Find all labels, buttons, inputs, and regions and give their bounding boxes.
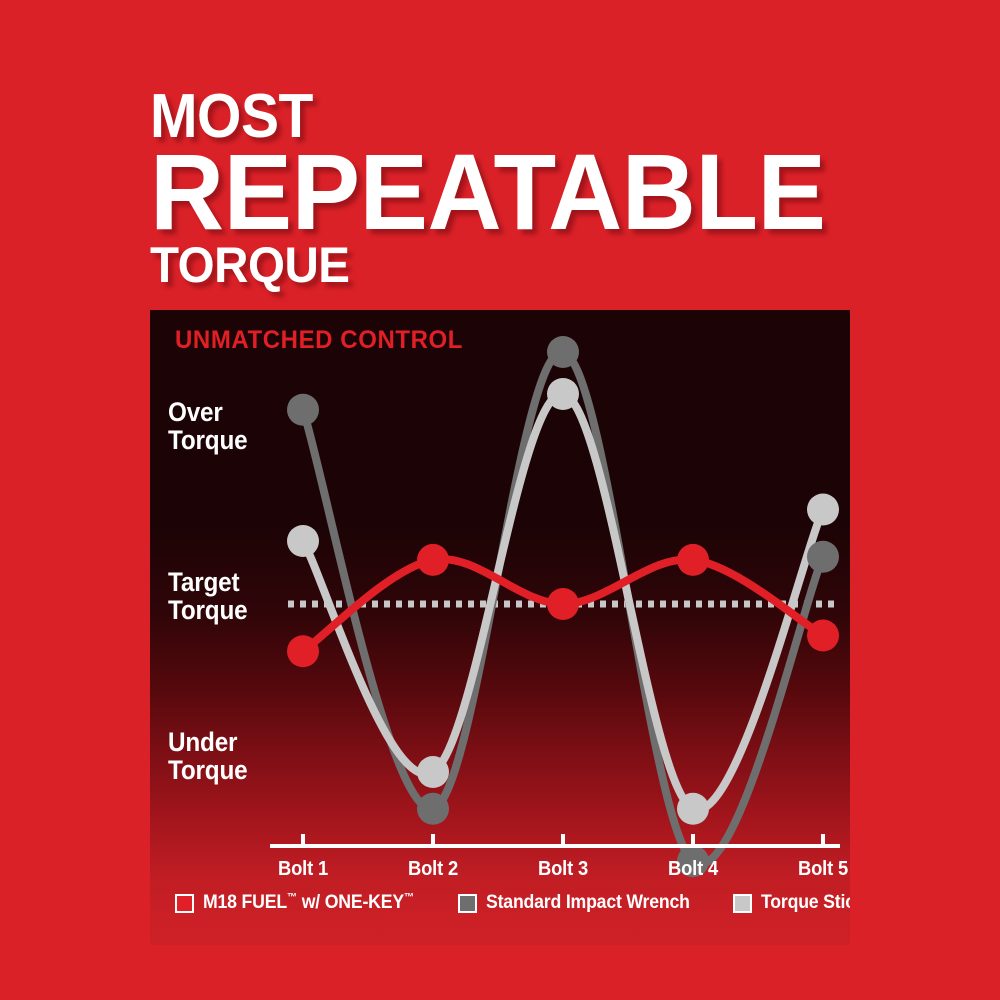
data-point-marker — [677, 544, 709, 576]
x-axis-tick-label: Bolt 3 — [538, 858, 588, 881]
legend-swatch-torque-stick — [733, 894, 752, 913]
data-point-marker — [287, 394, 319, 426]
legend-swatch-m18-fuel — [175, 894, 194, 913]
headline-block: MOST REPEATABLE TORQUE — [150, 88, 910, 289]
chart-panel: UNMATCHED CONTROL Over Torque Target Tor… — [150, 310, 850, 945]
data-point-marker — [287, 525, 319, 557]
headline-line-3: TORQUE — [150, 242, 872, 289]
legend-label-standard-impact-wrench: Standard Impact Wrench — [486, 892, 690, 914]
legend-item-torque-stick[interactable]: Torque Stick — [733, 892, 850, 914]
data-point-marker — [677, 793, 709, 825]
legend-label-m18-fuel: M18 FUEL™ w/ ONE-KEY™ — [203, 892, 414, 914]
data-point-marker — [807, 494, 839, 526]
x-axis-tick-label: Bolt 2 — [408, 858, 458, 881]
data-point-marker — [807, 541, 839, 573]
headline-line-2: REPEATABLE — [150, 142, 872, 242]
data-point-marker — [417, 544, 449, 576]
x-axis-tick-label: Bolt 1 — [278, 858, 328, 881]
chart-legend: M18 FUEL™ w/ ONE-KEY™ Standard Impact Wr… — [175, 892, 850, 914]
legend-item-standard-impact-wrench[interactable]: Standard Impact Wrench — [458, 892, 705, 914]
data-point-marker — [807, 620, 839, 652]
poster-root: MOST REPEATABLE TORQUE UNMATCHED CONTROL… — [0, 0, 1000, 1000]
legend-swatch-standard-impact-wrench — [458, 894, 477, 913]
data-point-marker — [417, 756, 449, 788]
legend-item-m18-fuel[interactable]: M18 FUEL™ w/ ONE-KEY™ — [175, 892, 430, 914]
data-point-marker — [287, 635, 319, 667]
chart-plot — [150, 310, 850, 945]
data-point-marker — [547, 378, 579, 410]
data-point-marker — [547, 588, 579, 620]
x-axis-tick-label: Bolt 4 — [668, 858, 718, 881]
data-point-marker — [547, 336, 579, 368]
data-point-marker — [417, 793, 449, 825]
x-axis-tick-label: Bolt 5 — [798, 858, 848, 881]
legend-label-torque-stick: Torque Stick — [761, 892, 850, 914]
